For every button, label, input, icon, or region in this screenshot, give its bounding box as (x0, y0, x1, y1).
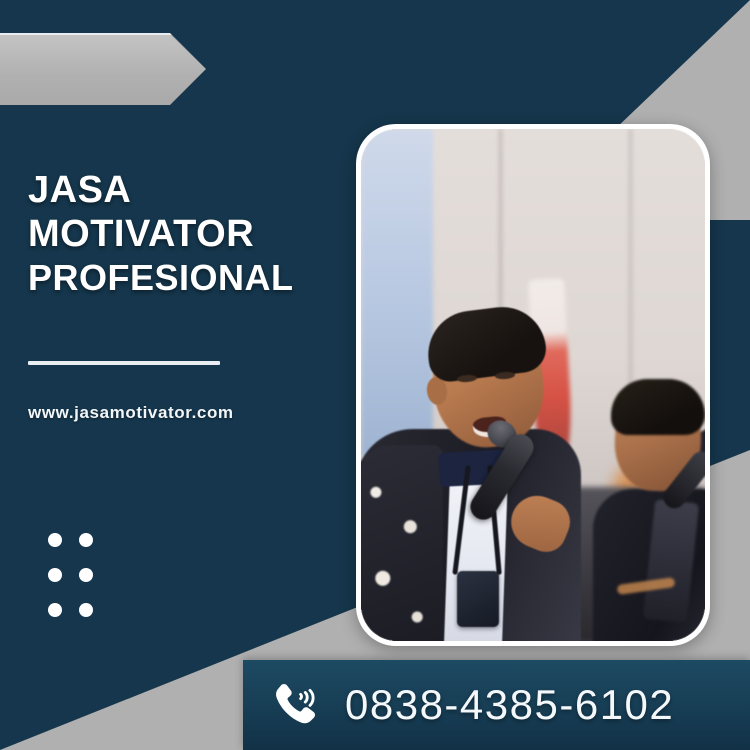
photo-background-panel (361, 129, 433, 457)
title-line-2: MOTIVATOR (28, 212, 358, 256)
dot (48, 533, 62, 547)
speaker-one-patterned-jacket (361, 445, 443, 641)
dot (79, 568, 93, 582)
dot (48, 568, 62, 582)
phone-ringing-icon (269, 678, 323, 732)
dot (79, 603, 93, 617)
arrow-banner (0, 33, 206, 105)
website-url[interactable]: www.jasamotivator.com (28, 403, 234, 423)
decorative-dot-grid (48, 533, 93, 617)
contact-bar[interactable]: 0838-4385-6102 (243, 660, 750, 750)
arrow-banner-fill (0, 35, 206, 105)
speaker-photo (361, 129, 705, 641)
poster-canvas: JASA MOTIVATOR PROFESIONAL www.jasamotiv… (0, 0, 750, 750)
dot (79, 533, 93, 547)
title-divider (28, 361, 220, 365)
speaker-photo-card (356, 124, 710, 646)
speaker-two-hair (611, 379, 705, 435)
phone-number[interactable]: 0838-4385-6102 (345, 681, 674, 729)
page-title: JASA MOTIVATOR PROFESIONAL (28, 168, 358, 299)
title-line-3: PROFESIONAL (28, 257, 358, 299)
speaker-one-id-badge (457, 571, 499, 627)
dot (48, 603, 62, 617)
title-line-1: JASA (28, 168, 358, 212)
